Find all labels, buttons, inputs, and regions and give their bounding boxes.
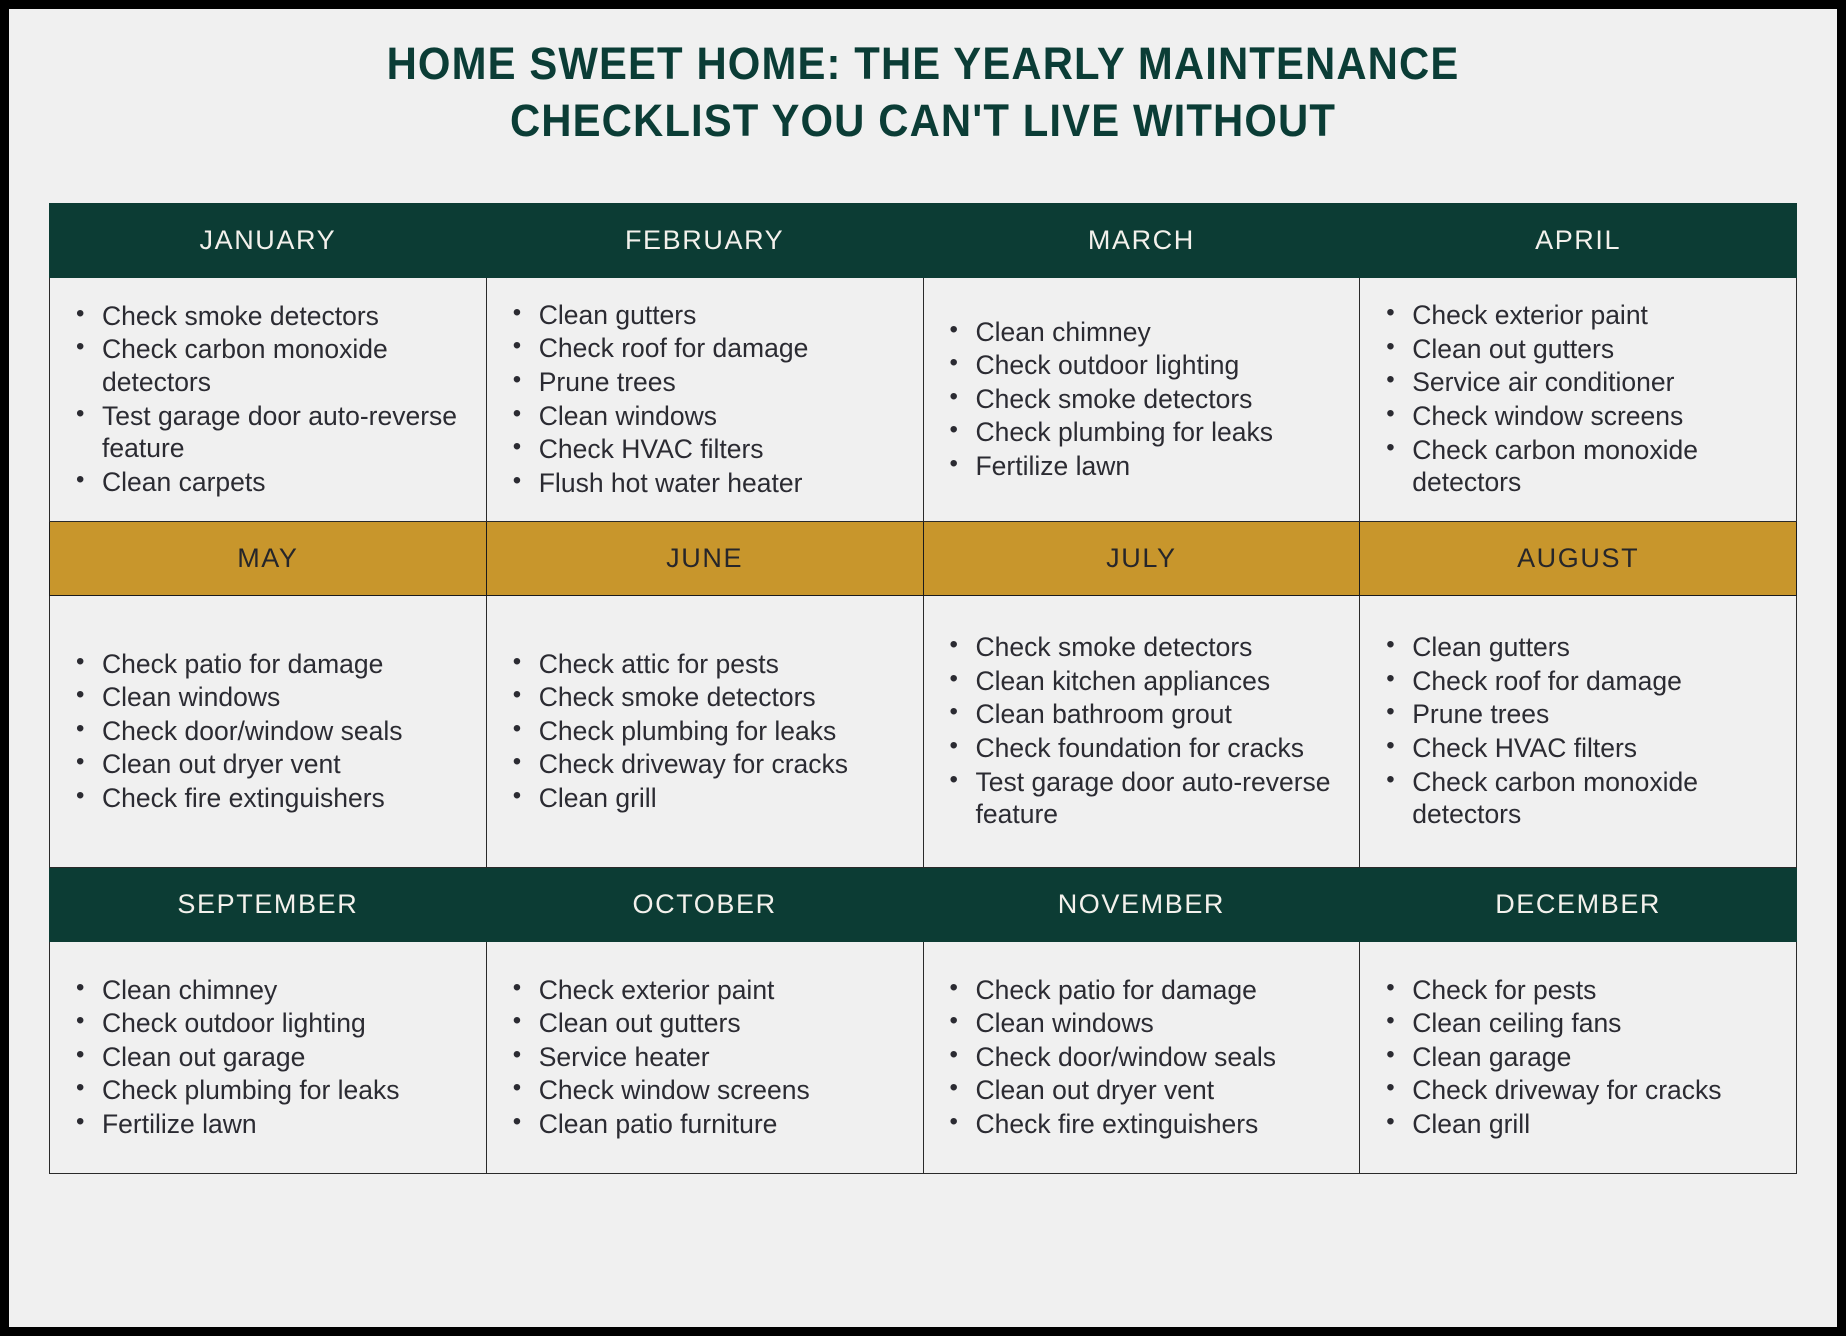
list-item: Clean chimney [976, 316, 1360, 349]
page-title: Home Sweet Home: The Yearly Maintenance … [73, 9, 1773, 149]
task-list-march: Clean chimney Check outdoor lighting Che… [924, 316, 1360, 483]
month-cell-january: Check smoke detectors Check carbon monox… [50, 278, 487, 522]
list-item: Fertilize lawn [976, 450, 1360, 483]
month-cell-april: Check exterior paint Clean out gutters S… [1360, 278, 1797, 522]
list-item: Prune trees [1412, 698, 1796, 731]
month-header-june: June [486, 522, 923, 596]
list-item: Check driveway for cracks [539, 748, 923, 781]
table-body: January February March April Check smoke… [50, 204, 1797, 1174]
list-item: Check exterior paint [539, 974, 923, 1007]
month-cell-december: Check for pests Clean ceiling fans Clean… [1360, 942, 1797, 1174]
month-cell-february: Clean gutters Check roof for damage Prun… [486, 278, 923, 522]
list-item: Clean out garage [102, 1041, 486, 1074]
list-item: Check HVAC filters [539, 433, 923, 466]
month-cell-july: Check smoke detectors Clean kitchen appl… [923, 596, 1360, 868]
list-item: Test garage door auto-reverse feature [102, 400, 486, 465]
list-item: Check driveway for cracks [1412, 1074, 1796, 1107]
list-item: Check patio for damage [102, 648, 486, 681]
list-item: Check window screens [1412, 400, 1796, 433]
list-item: Check foundation for cracks [976, 732, 1360, 765]
list-item: Check smoke detectors [976, 631, 1360, 664]
month-header-august: August [1360, 522, 1797, 596]
list-item: Check roof for damage [1412, 665, 1796, 698]
list-item: Clean windows [539, 400, 923, 433]
month-header-july: July [923, 522, 1360, 596]
task-list-september: Clean chimney Check outdoor lighting Cle… [50, 974, 486, 1141]
task-list-december: Check for pests Clean ceiling fans Clean… [1360, 974, 1796, 1141]
month-header-february: February [486, 204, 923, 278]
list-item: Clean gutters [539, 299, 923, 332]
list-item: Prune trees [539, 366, 923, 399]
table-row: May June July August [50, 522, 1797, 596]
list-item: Clean ceiling fans [1412, 1007, 1796, 1040]
month-cell-september: Clean chimney Check outdoor lighting Cle… [50, 942, 487, 1174]
month-cell-november: Check patio for damage Clean windows Che… [923, 942, 1360, 1174]
list-item: Clean chimney [102, 974, 486, 1007]
task-list-may: Check patio for damage Clean windows Che… [50, 648, 486, 815]
month-cell-may: Check patio for damage Clean windows Che… [50, 596, 487, 868]
list-item: Clean patio furniture [539, 1108, 923, 1141]
task-list-october: Check exterior paint Clean out gutters S… [487, 974, 923, 1141]
table-row: January February March April [50, 204, 1797, 278]
month-header-april: April [1360, 204, 1797, 278]
list-item: Check carbon monoxide detectors [1412, 434, 1796, 499]
page-title-line-2: Checklist You Can't Live Without [73, 92, 1773, 149]
list-item: Service air conditioner [1412, 366, 1796, 399]
month-cell-october: Check exterior paint Clean out gutters S… [486, 942, 923, 1174]
list-item: Clean windows [976, 1007, 1360, 1040]
list-item: Check for pests [1412, 974, 1796, 1007]
list-item: Clean out gutters [539, 1007, 923, 1040]
list-item: Clean grill [539, 782, 923, 815]
list-item: Check carbon monoxide detectors [1412, 766, 1796, 831]
list-item: Check outdoor lighting [976, 349, 1360, 382]
month-header-october: October [486, 868, 923, 942]
list-item: Flush hot water heater [539, 467, 923, 500]
page-title-line-1: Home Sweet Home: The Yearly Maintenance [73, 35, 1773, 92]
list-item: Check carbon monoxide detectors [102, 333, 486, 398]
list-item: Check smoke detectors [539, 681, 923, 714]
list-item: Clean out dryer vent [102, 748, 486, 781]
list-item: Check HVAC filters [1412, 732, 1796, 765]
table-row: September October November December [50, 868, 1797, 942]
list-item: Clean kitchen appliances [976, 665, 1360, 698]
task-list-june: Check attic for pests Check smoke detect… [487, 648, 923, 815]
list-item: Clean bathroom grout [976, 698, 1360, 731]
list-item: Test garage door auto-reverse feature [976, 766, 1360, 831]
poster-page: Home Sweet Home: The Yearly Maintenance … [9, 9, 1837, 1327]
task-list-january: Check smoke detectors Check carbon monox… [50, 300, 486, 499]
list-item: Check outdoor lighting [102, 1007, 486, 1040]
list-item: Clean carpets [102, 466, 486, 499]
list-item: Check smoke detectors [976, 383, 1360, 416]
list-item: Check attic for pests [539, 648, 923, 681]
list-item: Service heater [539, 1041, 923, 1074]
month-cell-august: Clean gutters Check roof for damage Prun… [1360, 596, 1797, 868]
month-header-january: January [50, 204, 487, 278]
task-list-april: Check exterior paint Clean out gutters S… [1360, 299, 1796, 499]
list-item: Fertilize lawn [102, 1108, 486, 1141]
maintenance-checklist-table: January February March April Check smoke… [49, 203, 1797, 1174]
month-header-september: September [50, 868, 487, 942]
list-item: Check fire extinguishers [976, 1108, 1360, 1141]
month-header-december: December [1360, 868, 1797, 942]
list-item: Check door/window seals [976, 1041, 1360, 1074]
list-item: Clean windows [102, 681, 486, 714]
list-item: Clean grill [1412, 1108, 1796, 1141]
task-list-february: Clean gutters Check roof for damage Prun… [487, 299, 923, 500]
list-item: Check smoke detectors [102, 300, 486, 333]
list-item: Clean gutters [1412, 631, 1796, 664]
list-item: Check patio for damage [976, 974, 1360, 1007]
list-item: Check plumbing for leaks [976, 416, 1360, 449]
month-header-november: November [923, 868, 1360, 942]
list-item: Check plumbing for leaks [102, 1074, 486, 1107]
table-row: Check patio for damage Clean windows Che… [50, 596, 1797, 868]
task-list-august: Clean gutters Check roof for damage Prun… [1360, 631, 1796, 831]
list-item: Check window screens [539, 1074, 923, 1107]
table-row: Check smoke detectors Check carbon monox… [50, 278, 1797, 522]
table-row: Clean chimney Check outdoor lighting Cle… [50, 942, 1797, 1174]
list-item: Clean out gutters [1412, 333, 1796, 366]
list-item: Clean out dryer vent [976, 1074, 1360, 1107]
month-cell-march: Clean chimney Check outdoor lighting Che… [923, 278, 1360, 522]
list-item: Check plumbing for leaks [539, 715, 923, 748]
month-header-march: March [923, 204, 1360, 278]
list-item: Clean garage [1412, 1041, 1796, 1074]
task-list-july: Check smoke detectors Clean kitchen appl… [924, 631, 1360, 831]
list-item: Check exterior paint [1412, 299, 1796, 332]
month-header-may: May [50, 522, 487, 596]
list-item: Check door/window seals [102, 715, 486, 748]
month-cell-june: Check attic for pests Check smoke detect… [486, 596, 923, 868]
list-item: Check roof for damage [539, 332, 923, 365]
task-list-november: Check patio for damage Clean windows Che… [924, 974, 1360, 1141]
list-item: Check fire extinguishers [102, 782, 486, 815]
